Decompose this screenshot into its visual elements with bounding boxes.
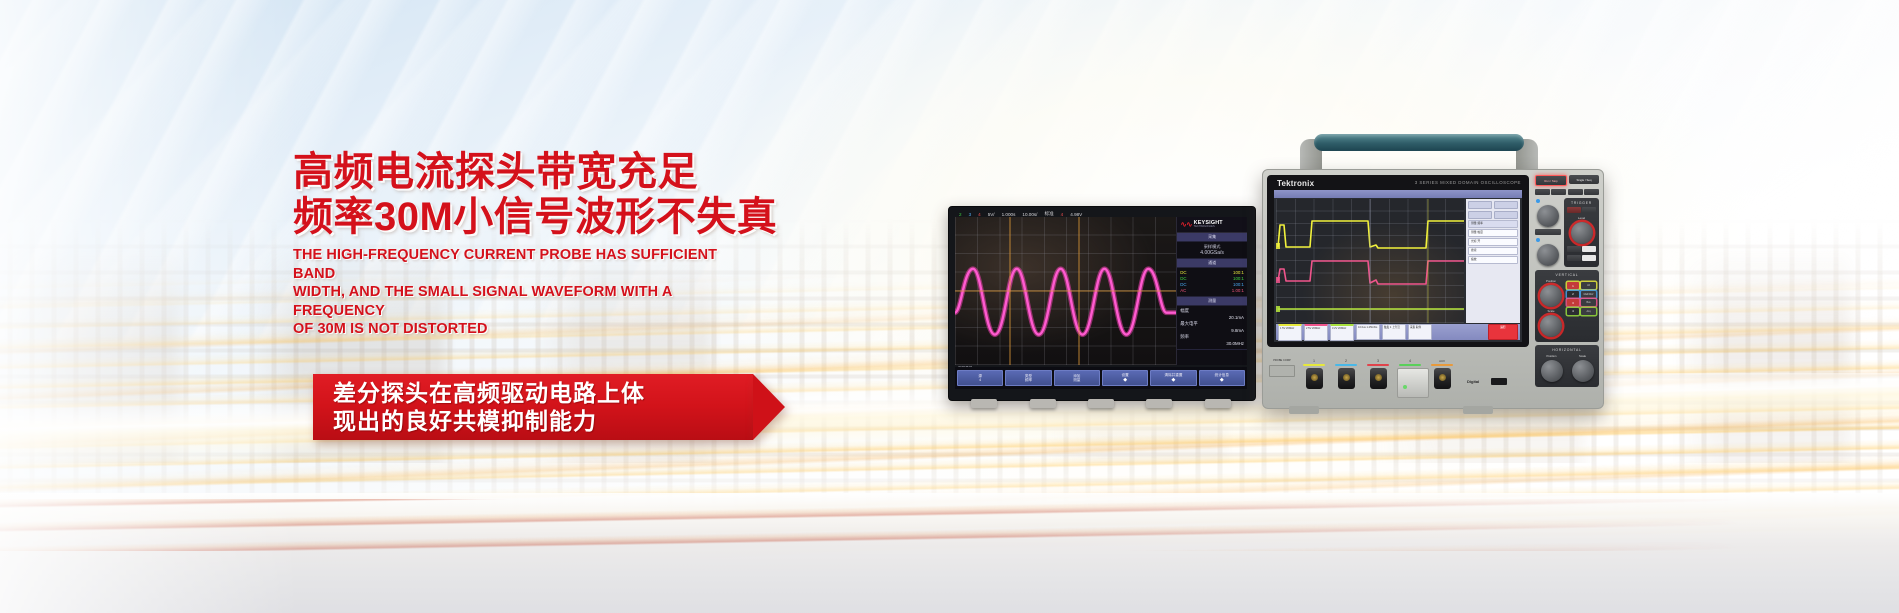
math-ref-button[interactable]: Math/Ref <box>1581 291 1596 298</box>
probe-comp-label: PROBE COMP <box>1269 359 1295 363</box>
trigger-level-label: Level <box>1567 216 1596 220</box>
tektronix-front-connectors: PROBE COMP 1 2 3 <box>1269 353 1531 403</box>
ks-meas1-label: 幅度 <box>1180 308 1189 313</box>
bnc-3-label: 3 <box>1365 359 1391 363</box>
keysight-feet <box>955 399 1247 409</box>
subcopy-line-3: OF 30M IS NOT DISTORTED <box>293 320 763 339</box>
channel-4-row: 4 Acq <box>1567 308 1596 315</box>
multipurpose-knob-b[interactable] <box>1537 244 1559 266</box>
tk-side-badge-3[interactable]: 光标 开 <box>1468 238 1518 246</box>
bnc-aux-label: AUX <box>1429 359 1455 363</box>
bnc-3-color-bar <box>1367 364 1389 366</box>
bnc-1-color-bar <box>1303 364 1325 366</box>
ks-acq-rate: 4.00GSa/s <box>1180 250 1244 256</box>
ks-channel-block: DC100:1 DC100:1 DC100:1 AC1.00:1 <box>1177 268 1247 297</box>
bnc-4-color-bar <box>1399 364 1421 366</box>
force-trigger-button[interactable] <box>1567 207 1581 213</box>
channel-3-button[interactable]: 3 <box>1567 299 1579 306</box>
ks-scale: 5V/ <box>988 212 995 217</box>
trigger-extra-buttons <box>1567 255 1596 261</box>
tektronix-foot-left <box>1289 406 1319 414</box>
ks-sk5-arrow-icon: ◆ <box>1172 378 1176 383</box>
bnc-2-color-bar <box>1335 364 1357 366</box>
tk-chip-ch3[interactable]: 3 2V 20MHz <box>1330 324 1354 341</box>
tk-run-indicator[interactable]: 运行 <box>1488 324 1518 340</box>
tektronix-chassis: Tektronix 3 SERIES MIXED DOMAIN OSCILLOS… <box>1262 169 1604 409</box>
tk-side-badge-5[interactable]: 缩放 <box>1468 256 1518 264</box>
run-stop-button[interactable]: Run / Stop <box>1535 175 1567 186</box>
tektronix-waveform-area <box>1276 199 1464 323</box>
channel-2-row: 2 Math/Ref <box>1567 291 1596 298</box>
ks-foot <box>1030 399 1056 408</box>
ks-ch4-label: 4 <box>978 212 981 217</box>
keysight-graticule <box>955 217 1176 365</box>
horizontal-scale-knob[interactable] <box>1572 360 1594 382</box>
ribbon-text: 差分探头在高频驱动电路上体 现出的良好共模抑制能力 <box>313 374 753 440</box>
channel-2-button[interactable]: 2 <box>1567 291 1579 298</box>
default-setup-button[interactable] <box>1551 189 1566 195</box>
tektronix-foot-right <box>1463 406 1493 414</box>
ks-softkey-2[interactable]: 类型频率 <box>1005 370 1051 386</box>
keysight-brand-sub: TECHNOLOGIES <box>1194 226 1223 229</box>
ks-softkey-1[interactable]: 源4 <box>957 370 1003 386</box>
trigger-section: TRIGGER Level <box>1564 198 1599 267</box>
vertical-section-title: VERTICAL <box>1538 273 1596 277</box>
keysight-screen[interactable]: ∿∿ KEYSIGHT TECHNOLOGIES 采集 采样模式 4.00GSa… <box>955 217 1247 365</box>
ks-sk6-arrow-icon: ◆ <box>1220 378 1224 383</box>
ks-foot <box>971 399 997 408</box>
trigger-set-50-button[interactable] <box>1567 246 1581 252</box>
tektronix-side-menu[interactable]: 测量 频率 测量 幅度 光标 开 搜索 缩放 <box>1466 199 1520 323</box>
bnc-channel-1[interactable]: 1 <box>1301 359 1327 389</box>
ks-measure-block: 幅度20.1mA 最大电平9.8mA 频率30.0MHz <box>1177 306 1247 350</box>
bnc-3-jack[interactable] <box>1370 368 1387 389</box>
clear-button[interactable] <box>1584 189 1599 195</box>
multipurpose-knob-a[interactable] <box>1537 205 1559 227</box>
tk-chip-horiz[interactable]: 10.0us 1.25GS/s <box>1356 324 1380 340</box>
ks-foot <box>1205 399 1231 408</box>
headline-line-2: 频率30M小信号波形不失真 <box>293 194 763 240</box>
trigger-menu-button[interactable] <box>1567 255 1581 261</box>
horizontal-position-knob[interactable] <box>1541 360 1563 382</box>
vertical-scale-knob[interactable] <box>1540 315 1562 337</box>
trigger-slope-icon[interactable] <box>1582 246 1596 252</box>
ks-sk2-l2: 频率 <box>1025 378 1032 382</box>
autoset-button[interactable] <box>1535 189 1550 195</box>
ribbon-arrow-icon <box>753 374 785 440</box>
ks-ch4-coupling: AC <box>1180 288 1186 294</box>
ks-measure-header: 测量 <box>1177 297 1247 306</box>
ks-acquire-header: 采集 <box>1177 233 1247 242</box>
digital-port-connector[interactable] <box>1491 378 1507 385</box>
bnc-channel-3[interactable]: 3 <box>1365 359 1391 389</box>
trigger-source-button[interactable] <box>1582 255 1596 261</box>
tektronix-bottom-toolbar[interactable]: 1 5V 20MHz 2 5V 20MHz 3 2V 20MHz 10.0us … <box>1276 324 1520 340</box>
tk-side-btn-c[interactable] <box>1468 211 1492 219</box>
digital-port-label: Digital <box>1467 379 1479 384</box>
tk-ch1-trace <box>1278 221 1464 248</box>
tektronix-model-line: 3 SERIES MIXED DOMAIN OSCILLOSCOPE <box>1415 180 1521 185</box>
ks-trig-level: 4.98V <box>1070 212 1082 217</box>
tk-side-badge-4[interactable]: 搜索 <box>1468 247 1518 255</box>
tk-chip-ch2[interactable]: 2 5V 20MHz <box>1304 324 1328 341</box>
vertical-position-knob[interactable] <box>1540 285 1562 307</box>
ks-softkey-6[interactable]: 统计信息◆ <box>1199 370 1245 386</box>
ks-ch2-label: 2 <box>959 212 962 217</box>
trigger-bottom-buttons <box>1567 246 1596 252</box>
ks-foot <box>1088 399 1114 408</box>
attached-probe-body[interactable] <box>1397 368 1429 398</box>
ks-sk4-arrow-icon: ◆ <box>1123 378 1127 383</box>
vertical-section: VERTICAL Position Scale 1 All <box>1535 270 1599 342</box>
ks-sk1-l2: 4 <box>979 378 981 382</box>
left-white-fade <box>0 0 300 613</box>
promo-banner: 高频电流探头带宽充足 频率30M小信号波形不失真 THE HIGH-FREQUE… <box>0 0 1899 613</box>
ks-trig-chan: 4 <box>1061 212 1064 217</box>
ks-channel-header: 通道 <box>1177 259 1247 268</box>
bnc-1-jack[interactable] <box>1306 368 1323 389</box>
tk-ch1-marker <box>1276 243 1280 249</box>
bnc-2-label: 2 <box>1333 359 1359 363</box>
keysight-logo: ∿∿ KEYSIGHT TECHNOLOGIES <box>1177 217 1247 233</box>
probe-comp-terminal[interactable] <box>1269 365 1295 377</box>
ks-foot <box>1146 399 1172 408</box>
tk-top-button-row: Run / Stop Single / Seq <box>1535 175 1599 186</box>
menu-button[interactable] <box>1568 189 1583 195</box>
bnc-channel-4[interactable]: 4 <box>1397 359 1423 398</box>
headline-line-1: 高频电流探头带宽充足 <box>293 150 763 194</box>
vertical-position-label: Position <box>1538 279 1564 283</box>
bnc-aux[interactable]: AUX <box>1429 359 1455 389</box>
tektronix-oscilloscope: Tektronix 3 SERIES MIXED DOMAIN OSCILLOS… <box>1262 133 1602 418</box>
tk-ch3-marker <box>1276 306 1280 312</box>
multipurpose-a-indicator <box>1536 199 1540 203</box>
tk-utility-button-row <box>1535 189 1599 195</box>
tk-knob-a-buttons <box>1535 229 1561 235</box>
tk-chip-acquire[interactable]: 采集 取样 <box>1408 324 1432 340</box>
keysight-oscilloscope: 2 3 4 5V/ 1.000s 10.00s/ 标准 4 4.98V ∿∿ <box>948 206 1256 401</box>
vertical-scale-label: Scale <box>1538 309 1564 313</box>
ks-timebase: 10.00s/ <box>1022 212 1037 217</box>
bnc-channel-2[interactable]: 2 <box>1333 359 1359 389</box>
subcopy-line-1: THE HIGH-FREQUENCY CURRENT PROBE HAS SUF… <box>293 246 763 283</box>
tk-ch2-trace <box>1278 261 1464 284</box>
keysight-softkey-bar: 源4 类型频率 添加测量 设置◆ 清除并重置◆ 统计信息◆ <box>955 367 1247 389</box>
keysight-wave-icon: ∿∿ <box>1180 221 1191 229</box>
subcopy-line-2: WIDTH, AND THE SMALL SIGNAL WAVEFORM WIT… <box>293 283 763 320</box>
tk-chip-trigger[interactable]: 触发 1 上升沿 <box>1382 324 1406 340</box>
horizontal-position-label: Position <box>1541 354 1563 358</box>
ks-meas3-label: 频率 <box>1180 334 1189 339</box>
channel-3-row: 3 Bus <box>1567 299 1596 306</box>
tk-side-btn-d[interactable] <box>1494 211 1518 219</box>
subcopy-block: THE HIGH-FREQUENCY CURRENT PROBE HAS SUF… <box>293 246 763 339</box>
ribbon-line-1: 差分探头在高频驱动电路上体 <box>333 379 753 407</box>
tk-side-btn-b[interactable] <box>1494 201 1518 209</box>
single-seq-button[interactable]: Single / Seq <box>1569 175 1599 184</box>
all-channels-button[interactable]: All <box>1581 282 1596 289</box>
tk-side-btn-row-1[interactable] <box>1468 201 1518 209</box>
trigger-mode-button[interactable] <box>1582 207 1596 213</box>
tektronix-display-bezel: Tektronix 3 SERIES MIXED DOMAIN OSCILLOS… <box>1267 175 1529 347</box>
tk-side-badge-1[interactable]: 测量 频率 <box>1468 220 1518 228</box>
ks-softkey-5[interactable]: 清除并重置◆ <box>1150 370 1196 386</box>
tk-side-badge-2[interactable]: 测量 幅度 <box>1468 229 1518 237</box>
keysight-side-panel: ∿∿ KEYSIGHT TECHNOLOGIES 采集 采样模式 4.00GSa… <box>1176 217 1247 365</box>
ks-delay: 1.000s <box>1002 212 1016 217</box>
channel-1-button[interactable]: 1 <box>1567 282 1579 289</box>
multipurpose-b-indicator <box>1536 238 1540 242</box>
tektronix-waveform-traces <box>1276 199 1464 323</box>
keysight-sine-waveform <box>955 217 1176 364</box>
ks-meas3-value: 30.0MHz <box>1180 341 1244 348</box>
tektronix-brand: Tektronix <box>1277 179 1314 188</box>
trigger-level-knob[interactable] <box>1571 222 1593 244</box>
ks-ch3-label: 3 <box>969 212 972 217</box>
ks-meas2-label: 最大电平 <box>1180 321 1198 326</box>
bnc-1-label: 1 <box>1301 359 1327 363</box>
horizontal-section-title: HORIZONTAL <box>1538 348 1596 352</box>
bnc-4-label: 4 <box>1397 359 1423 363</box>
ks-ch4-probe: 1.00:1 <box>1232 288 1244 294</box>
tektronix-control-panel: Run / Stop Single / Seq <box>1535 175 1599 403</box>
highlight-ribbon: 差分探头在高频驱动电路上体 现出的良好共模抑制能力 <box>313 374 753 440</box>
channel-4-button[interactable]: 4 <box>1567 308 1579 315</box>
channel-1-row: 1 All <box>1567 282 1596 289</box>
tk-ch2-marker <box>1276 277 1280 283</box>
knob-a-fine-button[interactable] <box>1535 229 1561 235</box>
bnc-aux-color-bar <box>1431 364 1453 366</box>
ribbon-line-2: 现出的良好共模抑制能力 <box>333 407 753 435</box>
tektronix-top-toolbar[interactable] <box>1274 190 1522 198</box>
tk-chip-ch1[interactable]: 1 5V 20MHz <box>1278 324 1302 341</box>
bus-button[interactable]: Bus <box>1581 299 1596 306</box>
horizontal-scale-label: Scale <box>1572 354 1594 358</box>
acq-button[interactable]: Acq <box>1581 308 1596 315</box>
tk-side-btn-row-2[interactable] <box>1468 211 1518 219</box>
horizontal-section: HORIZONTAL Position Scale <box>1535 345 1599 387</box>
tektronix-screen[interactable]: 测量 频率 测量 幅度 光标 开 搜索 缩放 1 5V 20MHz 2 5V 2… <box>1274 190 1522 342</box>
copy-block: 高频电流探头带宽充足 频率30M小信号波形不失真 THE HIGH-FREQUE… <box>293 150 763 339</box>
ks-acquire-block: 采样模式 4.00GSa/s <box>1177 242 1247 259</box>
tk-side-btn-a[interactable] <box>1468 201 1492 209</box>
ks-sk3-l2: 测量 <box>1073 378 1080 382</box>
bnc-aux-jack[interactable] <box>1434 368 1451 389</box>
probe-comp-block: PROBE COMP <box>1269 359 1295 377</box>
trigger-section-title: TRIGGER <box>1567 201 1596 205</box>
trigger-top-buttons <box>1567 207 1596 213</box>
ks-softkey-3[interactable]: 添加测量 <box>1054 370 1100 386</box>
handle-bar <box>1314 134 1524 151</box>
ks-softkey-4[interactable]: 设置◆ <box>1102 370 1148 386</box>
bnc-2-jack[interactable] <box>1338 368 1355 389</box>
